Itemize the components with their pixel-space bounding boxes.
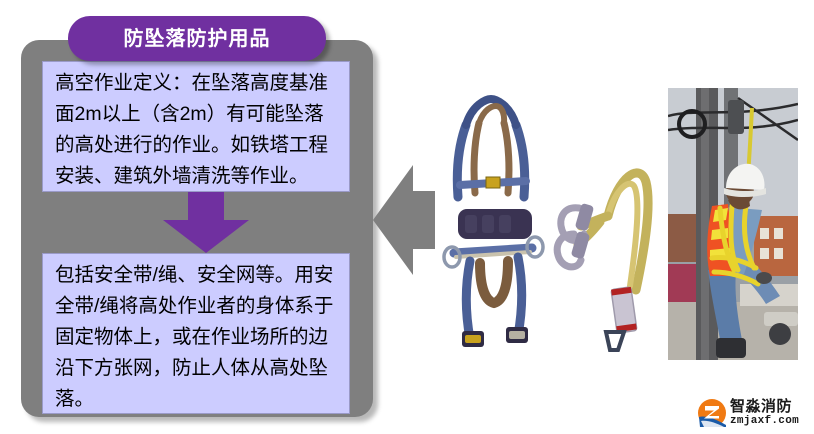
zmjaxf-logo-icon [697, 398, 727, 428]
definition-text-box: 高空作业定义：在坠落高度基准面2m以上（含2m）有可能坠落的高处进行的作业。如铁… [42, 61, 350, 192]
equipment-text-box: 包括安全带/绳、安全网等。用安全带/绳将高处作业者的身体系于固定物体上，或在作业… [42, 253, 350, 414]
left-arrow-icon [373, 165, 435, 275]
safety-harness-photo [432, 85, 554, 360]
panel-title-badge: 防坠落防护用品 [68, 16, 326, 61]
worker-at-height-photo [668, 88, 798, 360]
logo-website-url: zmjaxf.com [730, 416, 799, 427]
page-title: 防坠落防护用品 [124, 29, 271, 49]
down-arrow-icon [163, 190, 249, 253]
logo-company-name: 智淼消防 [730, 399, 799, 414]
site-logo[interactable]: 智淼消防 zmjaxf.com [697, 396, 809, 430]
safety-lanyard-photo [548, 140, 668, 360]
